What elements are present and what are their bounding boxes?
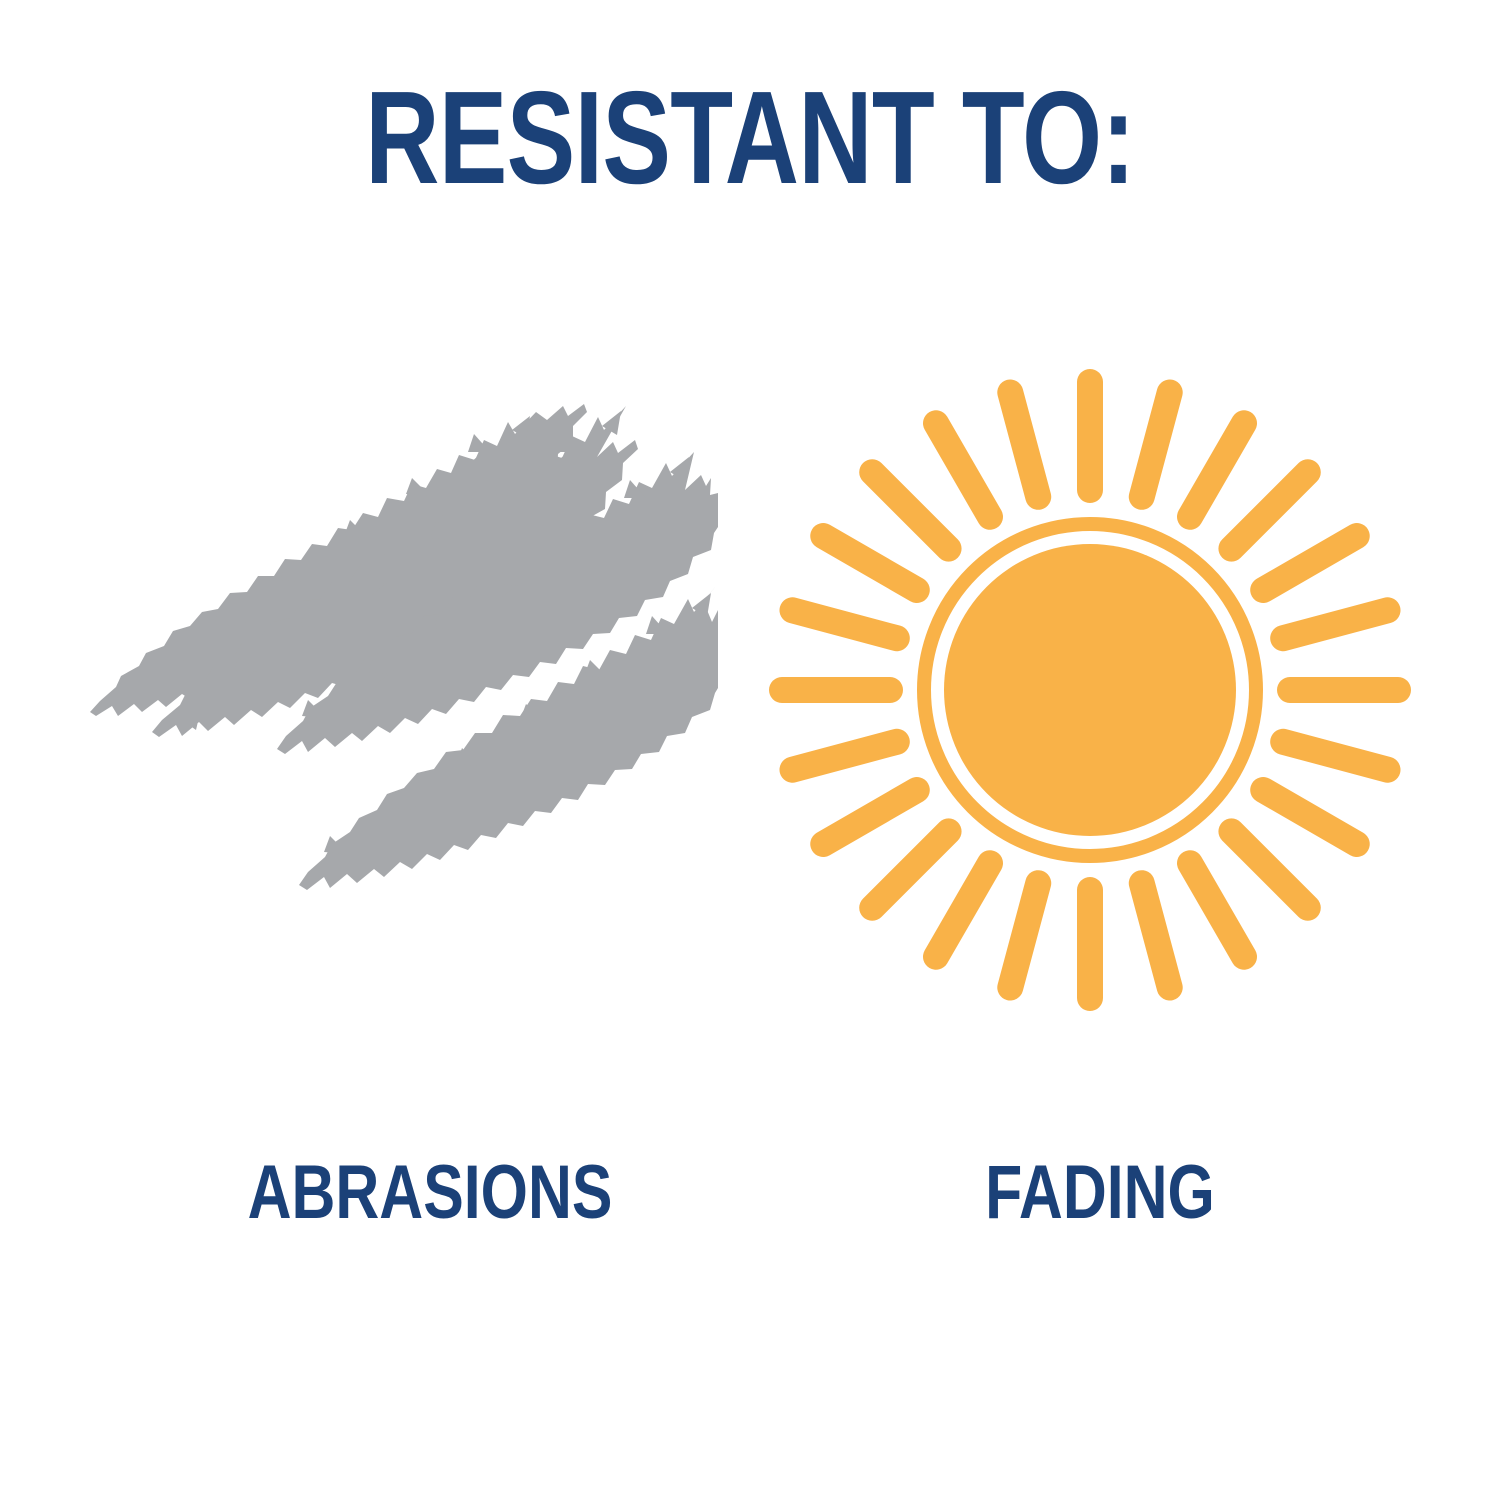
poster-canvas: RESISTANT TO: [0,0,1500,1500]
sun-ray [1283,610,1387,638]
sun-ray [1263,536,1357,590]
feature-columns [0,360,1500,1060]
sun-ray [872,472,948,548]
sun-ray [1283,742,1387,770]
sun-ray [1231,472,1307,548]
sun-ray [1010,883,1038,987]
feature-abrasions [60,360,720,1060]
sun-ray [1010,392,1038,496]
sun-ray [792,610,896,638]
sun-ray [1190,863,1244,957]
caption-abrasions: ABRASIONS [86,1155,774,1231]
sun-ray [792,742,896,770]
sun-ray [823,790,917,844]
sun-ray [1142,883,1170,987]
claw-marks-icon [60,360,720,1020]
page-title: RESISTANT TO: [165,72,1335,204]
sun-ray [1263,790,1357,844]
sun-ray [872,831,948,907]
sun-ray [1231,831,1307,907]
sun-ray [1190,423,1244,517]
sun-ray [823,536,917,590]
sun-ray [1142,392,1170,496]
sun-icon [760,360,1420,1020]
sun-ray [936,423,990,517]
feature-fading [760,360,1420,1060]
sun-ray [936,863,990,957]
caption-fading: FADING [796,1155,1404,1231]
